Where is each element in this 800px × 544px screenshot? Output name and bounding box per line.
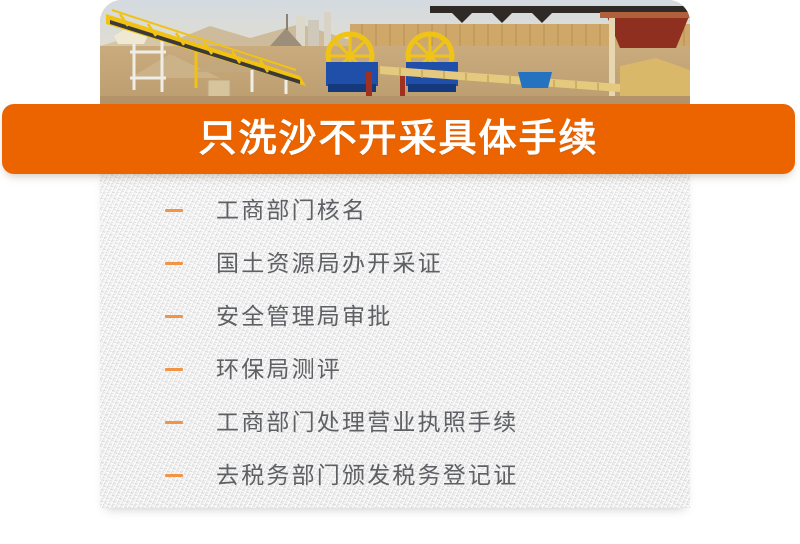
page-root: 只洗沙不开采具体手续 工商部门核名 国土资源局办开采证 安全管理局审批 环保局测… — [0, 0, 800, 544]
dash-bullet-icon — [165, 209, 183, 212]
list-item-label: 工商部门处理营业执照手续 — [216, 411, 518, 434]
page-title: 只洗沙不开采具体手续 — [198, 120, 598, 158]
list-item: 工商部门核名 — [100, 184, 690, 237]
list-item-label: 去税务部门颁发税务登记证 — [216, 464, 518, 487]
dash-bullet-icon — [165, 368, 183, 371]
procedure-list-card: 工商部门核名 国土资源局办开采证 安全管理局审批 环保局测评 工商部门处理营业执… — [100, 168, 690, 508]
photo-illustration — [100, 0, 690, 112]
title-banner: 只洗沙不开采具体手续 — [2, 104, 795, 174]
dash-bullet-icon — [165, 474, 183, 477]
list-item: 去税务部门颁发税务登记证 — [100, 449, 690, 502]
list-item: 工商部门处理营业执照手续 — [100, 396, 690, 449]
procedure-list: 工商部门核名 国土资源局办开采证 安全管理局审批 环保局测评 工商部门处理营业执… — [100, 184, 690, 502]
list-item: 安全管理局审批 — [100, 290, 690, 343]
sand-washing-plant-photo — [100, 0, 690, 112]
list-item-label: 安全管理局审批 — [216, 305, 392, 328]
list-item: 国土资源局办开采证 — [100, 237, 690, 290]
list-item-label: 工商部门核名 — [216, 199, 367, 222]
list-item: 环保局测评 — [100, 343, 690, 396]
list-item-label: 环保局测评 — [216, 358, 342, 381]
dash-bullet-icon — [165, 315, 183, 318]
dash-bullet-icon — [165, 262, 183, 265]
list-item-label: 国土资源局办开采证 — [216, 252, 443, 275]
dash-bullet-icon — [165, 421, 183, 424]
